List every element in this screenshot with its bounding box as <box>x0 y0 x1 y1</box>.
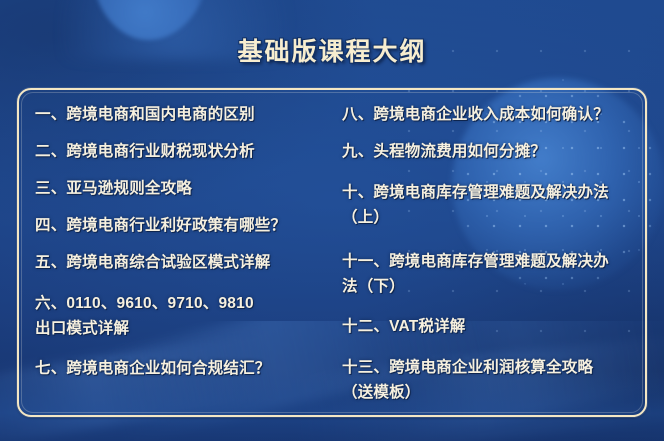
slide-title: 基础版课程大纲 <box>0 32 664 68</box>
outline-item: 八、跨境电商企业收入成本如何确认？ <box>342 106 637 124</box>
outline-left-column: 一、跨境电商和国内电商的区别 二、跨境电商行业财税现状分析 三、亚马逊规则全攻略… <box>23 106 332 407</box>
outline-item: 四、跨境电商行业利好政策有哪些？ <box>35 217 328 235</box>
outline-columns: 一、跨境电商和国内电商的区别 二、跨境电商行业财税现状分析 三、亚马逊规则全攻略… <box>17 88 647 417</box>
outline-item: 七、跨境电商企业如何合规结汇？ <box>35 360 328 378</box>
outline-item: 六、0110、9610、9710、9810 出口模式详解 <box>35 291 328 341</box>
outline-item: 十、跨境电商库存管理难题及解决办法 （上） <box>342 180 637 230</box>
outline-item: 十一、跨境电商库存管理难题及解决办 法（下） <box>342 249 637 299</box>
outline-item: 三、亚马逊规则全攻略 <box>35 180 328 198</box>
outline-item: 一、跨境电商和国内电商的区别 <box>35 106 328 124</box>
course-outline-slide: 基础版课程大纲 一、跨境电商和国内电商的区别 二、跨境电商行业财税现状分析 三、… <box>0 0 664 441</box>
outline-item: 五、跨境电商综合试验区模式详解 <box>35 254 328 272</box>
outline-item: 十三、跨境电商企业利润核算全攻略 （送模板） <box>342 355 637 405</box>
outline-right-column: 八、跨境电商企业收入成本如何确认？ 九、头程物流费用如何分摊？ 十、跨境电商库存… <box>332 106 641 407</box>
outline-item: 二、跨境电商行业财税现状分析 <box>35 143 328 161</box>
outline-item: 九、头程物流费用如何分摊？ <box>342 143 637 161</box>
outline-item: 十二、VAT税详解 <box>342 318 637 336</box>
